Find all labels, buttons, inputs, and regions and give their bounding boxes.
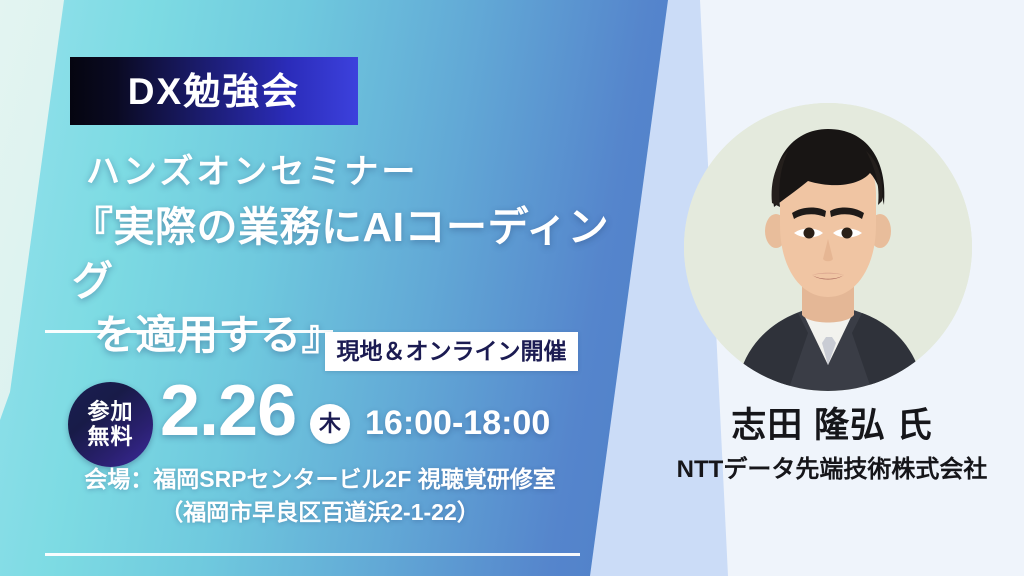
format-banner-label: 現地＆オンライン開催 [337,340,567,363]
event-time: 16:00-18:00 [365,405,550,442]
seminar-poster: DX勉強会 ハンズオンセミナー 『実際の業務にAIコーディング を適用する』 現… [0,0,1024,576]
seminar-title-line-1: 『実際の業務にAIコーディング [72,200,632,308]
venue-info: 会場：福岡SRPセンタービル2F 視聴覚研修室 （福岡市早良区百道浜2-1-22… [60,463,580,530]
venue-address: （福岡市早良区百道浜2-1-22） [60,496,580,529]
venue-name: 会場：福岡SRPセンタービル2F 視聴覚研修室 [60,463,580,496]
speaker-portrait-illustration [684,103,972,391]
speaker-info: 志田 隆弘 氏 NTTデータ先端技術株式会社 [660,405,1004,485]
dx-study-group-badge-label: DX勉強会 [128,73,300,110]
divider-bottom [45,553,580,556]
free-admission-line-1: 参加 [87,400,133,425]
speaker-company: NTTデータ先端技術株式会社 [660,456,1004,485]
seminar-subtitle-line: ハンズオンセミナー [86,150,632,196]
event-day-of-week-badge: 木 [310,404,350,444]
divider-top [45,330,333,333]
event-date: 2.26 [160,375,296,447]
format-banner: 現地＆オンライン開催 [325,332,578,371]
speaker-name: 志田 隆弘 氏 [660,405,1004,447]
dx-study-group-badge: DX勉強会 [70,57,358,125]
speaker-portrait [684,103,972,391]
free-admission-line-2: 無料 [87,425,133,450]
event-day-of-week-label: 木 [319,413,341,435]
free-admission-badge: 参加 無料 [68,382,153,467]
